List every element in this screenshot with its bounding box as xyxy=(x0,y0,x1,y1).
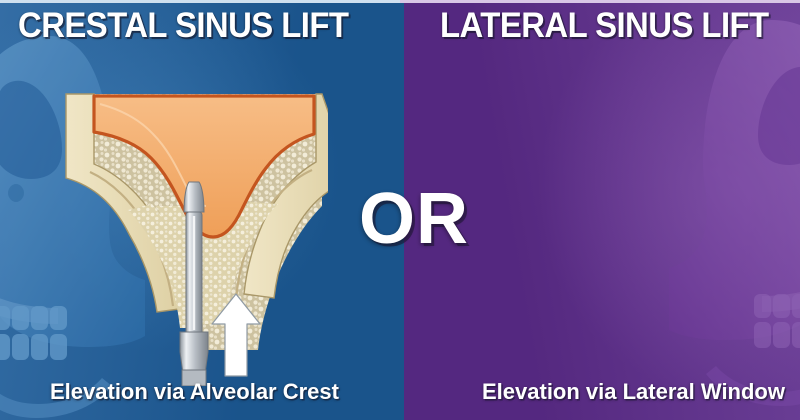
panel-caption-lateral: Elevation via Lateral Window xyxy=(482,378,785,406)
top-edge-rule xyxy=(0,0,800,3)
panel-caption-crestal: Elevation via Alveolar Crest xyxy=(50,378,339,406)
infographic-canvas: CRESTAL SINUS LIFT xyxy=(0,0,800,420)
panel-title-crestal: CRESTAL SINUS LIFT xyxy=(18,4,348,48)
illustration-crestal-sinus-lift xyxy=(60,86,328,386)
panel-title-lateral: LATERAL SINUS LIFT xyxy=(440,4,769,48)
divider-or-label: OR xyxy=(359,178,463,260)
panel-crestal-sinus-lift: CRESTAL SINUS LIFT xyxy=(0,0,404,420)
